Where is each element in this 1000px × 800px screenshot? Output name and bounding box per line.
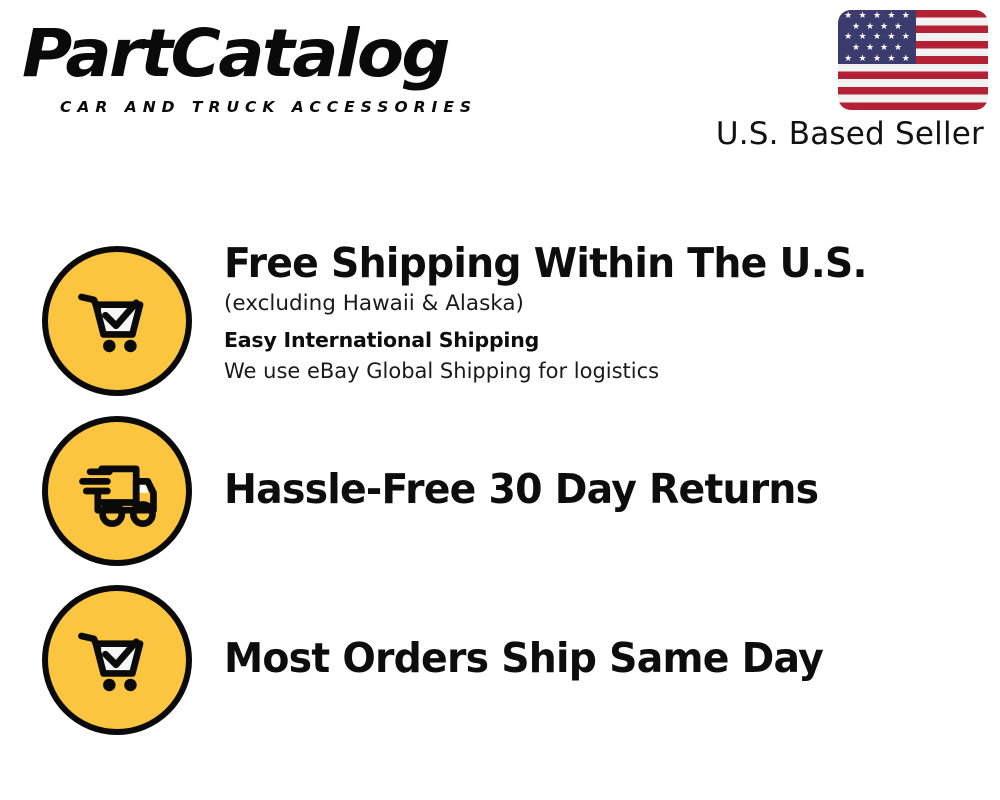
star-icon: ★ — [859, 32, 867, 41]
us-flag-icon: ★ ★ ★ ★ ★ ★ ★ ★ ★ ★ ★ ★ ★ ★ — [838, 10, 988, 110]
star-icon: ★ — [873, 54, 881, 63]
feature-row: Most Orders Ship Same Day — [0, 580, 1000, 750]
feature-row: Hassle-Free 30 Day Returns — [0, 410, 1000, 580]
star-icon: ★ — [859, 11, 867, 20]
brand-tagline: CAR AND TRUCK ACCESSORIES — [60, 98, 477, 116]
flag-star-row: ★ ★ ★ ★ — [838, 21, 916, 32]
feature-list: Free Shipping Within The U.S. (excluding… — [0, 238, 1000, 750]
star-icon: ★ — [866, 43, 874, 52]
star-icon: ★ — [844, 11, 852, 20]
delivery-truck-icon — [42, 416, 192, 566]
star-icon: ★ — [844, 32, 852, 41]
brand-wordmark: PartCatalog — [22, 18, 511, 90]
feature-note: (excluding Hawaii & Alaska) — [224, 288, 1000, 320]
star-icon: ★ — [873, 32, 881, 41]
star-icon: ★ — [887, 54, 895, 63]
shopping-cart-check-icon — [42, 246, 192, 396]
flag-star-row: ★ ★ ★ ★ ★ — [838, 53, 916, 64]
feature-subheading: Easy International Shipping — [224, 325, 1000, 356]
flag-star-row: ★ ★ ★ ★ ★ — [838, 10, 916, 21]
star-icon: ★ — [894, 43, 902, 52]
star-icon: ★ — [852, 22, 860, 31]
star-icon: ★ — [880, 43, 888, 52]
partcatalog-logo[interactable]: PartCatalog CAR AND TRUCK ACCESSORIES — [22, 18, 492, 118]
feature-headline: Free Shipping Within The U.S. — [224, 238, 969, 288]
star-icon: ★ — [902, 32, 910, 41]
star-icon: ★ — [852, 43, 860, 52]
star-icon: ★ — [902, 11, 910, 20]
us-based-seller-label: U.S. Based Seller — [688, 116, 988, 152]
seller-info-banner: PartCatalog CAR AND TRUCK ACCESSORIES ★ … — [0, 0, 1000, 800]
star-icon: ★ — [902, 54, 910, 63]
us-based-seller-badge: ★ ★ ★ ★ ★ ★ ★ ★ ★ ★ ★ ★ ★ ★ — [688, 10, 988, 152]
flag-star-row: ★ ★ ★ ★ — [838, 42, 916, 53]
flag-star-row: ★ ★ ★ ★ ★ — [838, 32, 916, 43]
feature-headline: Most Orders Ship Same Day — [224, 633, 969, 683]
star-icon: ★ — [859, 54, 867, 63]
star-icon: ★ — [880, 22, 888, 31]
feature-headline: Hassle-Free 30 Day Returns — [224, 464, 969, 514]
star-icon: ★ — [894, 22, 902, 31]
flag-canton: ★ ★ ★ ★ ★ ★ ★ ★ ★ ★ ★ ★ ★ ★ — [838, 10, 916, 64]
star-icon: ★ — [866, 22, 874, 31]
shopping-cart-check-icon — [42, 585, 192, 735]
star-icon: ★ — [873, 11, 881, 20]
star-icon: ★ — [887, 11, 895, 20]
feature-subtext: We use eBay Global Shipping for logistic… — [224, 356, 1000, 387]
feature-text: Hassle-Free 30 Day Returns — [192, 410, 1000, 514]
star-icon: ★ — [887, 32, 895, 41]
feature-text: Most Orders Ship Same Day — [192, 580, 1000, 683]
feature-row: Free Shipping Within The U.S. (excluding… — [0, 238, 1000, 410]
feature-text: Free Shipping Within The U.S. (excluding… — [192, 238, 1000, 387]
star-icon: ★ — [844, 54, 852, 63]
